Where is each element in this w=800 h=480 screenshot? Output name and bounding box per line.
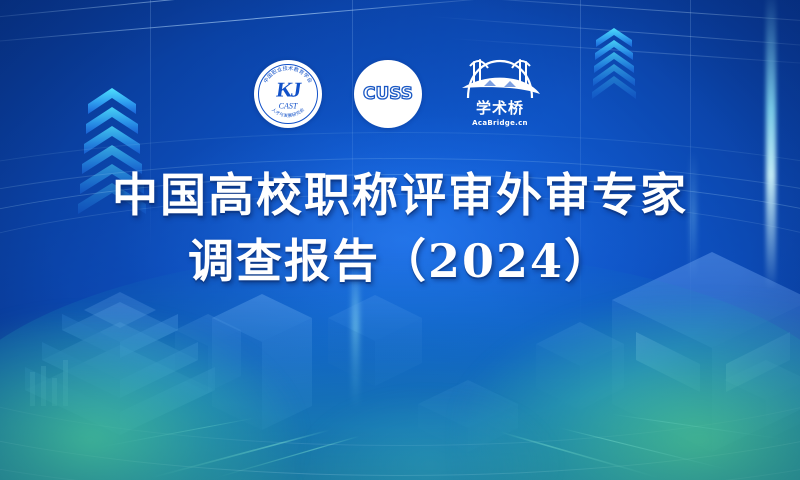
poster-title: 中国高校职称评审外审专家 调查报告（2024）	[0, 170, 800, 287]
seal-subtext: CAST	[279, 102, 298, 111]
title-line-1: 中国高校职称评审外审专家	[0, 170, 800, 222]
logo-acabridge[interactable]: 学术桥 AcaBridge.cn	[454, 56, 546, 132]
ground-glow-center	[300, 390, 560, 480]
bridge-icon	[454, 56, 546, 100]
seal-disc: 中国职业技术教育学会 人才与发展研究会 KJ CAST	[254, 60, 322, 128]
bridge-cn-name: 学术桥	[476, 101, 524, 116]
title-line-2: 调查报告（2024）	[0, 236, 800, 288]
logo-china-association-seal[interactable]: 中国职业技术教育学会 人才与发展研究会 KJ CAST	[254, 60, 322, 128]
light-streak-3	[0, 0, 518, 45]
bridge-en-name: AcaBridge.cn	[472, 119, 528, 127]
cuss-wordmark: CUSS	[363, 84, 413, 104]
light-streak-4	[430, 0, 800, 26]
bridge-mark: 学术桥 AcaBridge.cn	[454, 56, 546, 132]
ground-glow-left	[0, 310, 300, 480]
cuss-disc: CUSS	[354, 60, 422, 128]
logo-cuss[interactable]: CUSS	[354, 60, 422, 128]
logo-row: 中国职业技术教育学会 人才与发展研究会 KJ CAST CUSS	[0, 56, 800, 132]
poster-canvas: 中国职业技术教育学会 人才与发展研究会 KJ CAST CUSS	[0, 0, 800, 480]
light-streak-5	[430, 16, 800, 50]
seal-monogram: KJ	[275, 77, 301, 102]
